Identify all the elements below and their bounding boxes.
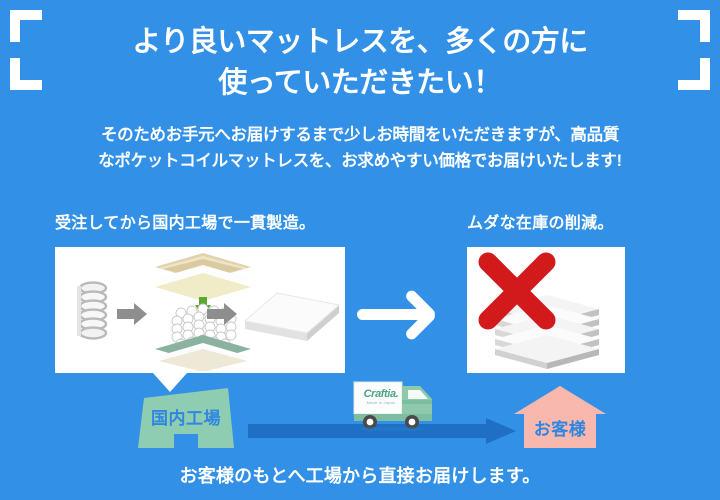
headline-line-2: 使っていただきたい！ xyxy=(0,63,720,104)
bottom-caption: お客様のもとへ工場から直接お届けします。 xyxy=(0,462,720,488)
top-cover-layers xyxy=(155,253,251,301)
arrow-right-icon xyxy=(355,288,459,342)
subtitle-line-2: なポケットコイルマットレスを、お求めやすい価格でお届けいたします! xyxy=(0,148,720,174)
coil-spring-icon xyxy=(75,280,111,344)
truck-logo: Craftia. xyxy=(359,388,403,400)
subtitle-line-1: そのためお手元へお届けするまで少しお時間をいただきますが、高品質 xyxy=(0,122,720,148)
manufacturing-panel xyxy=(55,247,345,373)
process-arrow-1-icon xyxy=(117,303,147,325)
truck-logo-subtext: Made in Japan xyxy=(359,400,403,405)
right-panel-label: ムダな在庫の削減。 xyxy=(467,209,614,233)
headline-line-1: より良いマットレスを、多くの方に xyxy=(0,22,720,63)
customer-label: お客様 xyxy=(512,415,608,440)
left-panel-label: 受注してから国内工場で一貫製造。 xyxy=(55,209,315,233)
subtitle: そのためお手元へお届けするまで少しお時間をいただきますが、高品質 なポケットコイ… xyxy=(0,122,720,175)
red-x-icon xyxy=(475,249,559,333)
inventory-reduction-panel xyxy=(467,247,625,373)
factory-label: 国内工場 xyxy=(138,404,234,429)
finished-mattress-icon xyxy=(243,289,343,349)
bottom-cover-layers xyxy=(155,335,251,371)
headline: より良いマットレスを、多くの方に 使っていただきたい！ xyxy=(0,22,720,104)
infographic-banner: より良いマットレスを、多くの方に 使っていただきたい！ そのためお手元へお届けす… xyxy=(0,0,720,500)
process-arrow-2-icon xyxy=(207,303,237,325)
